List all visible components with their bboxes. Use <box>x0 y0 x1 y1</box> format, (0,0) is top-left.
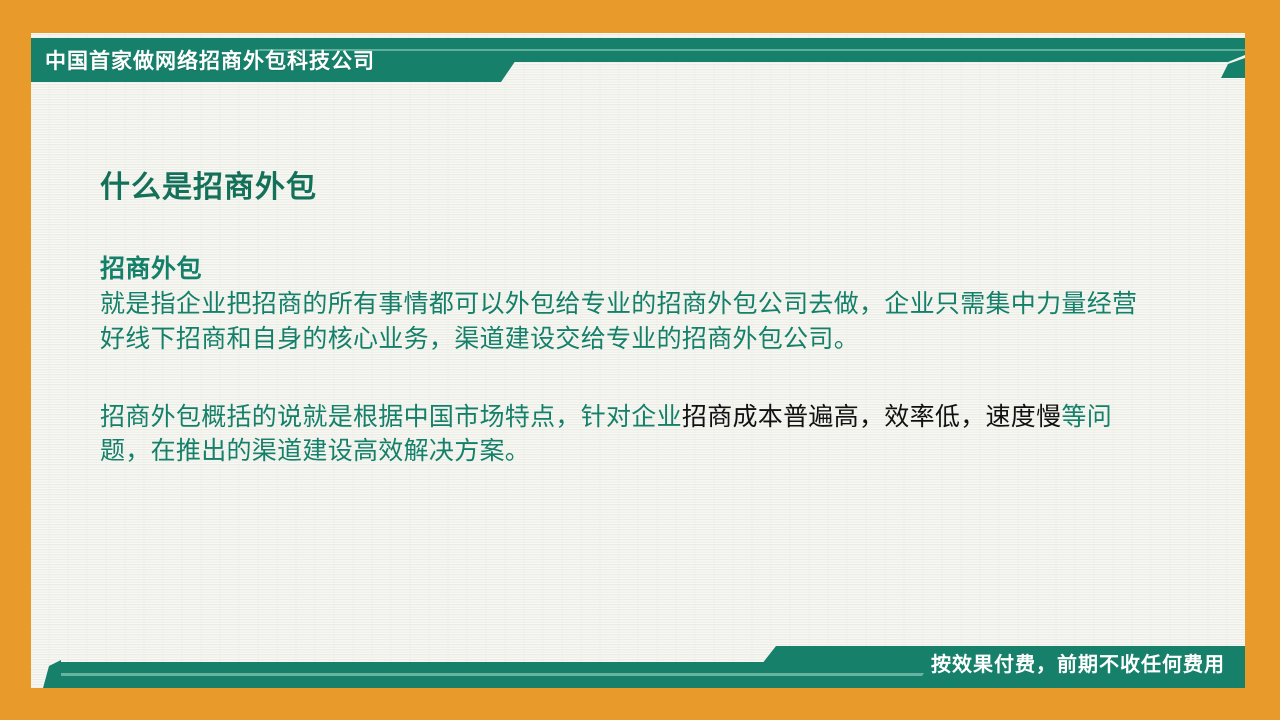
section-subhead: 招商外包 <box>100 254 1230 285</box>
slide-content: 什么是招商外包 招商外包 就是指企业把招商的所有事情都可以外包给专业的招商外包公… <box>100 170 1230 468</box>
paragraph-definition: 就是指企业把招商的所有事情都可以外包给专业的招商外包公司去做，企业只需集中力量经… <box>100 287 1150 356</box>
paragraph-summary: 招商外包概括的说就是根据中国市场特点，针对企业招商成本普遍高，效率低，速度慢等问… <box>100 400 1150 469</box>
header-title: 中国首家做网络招商外包科技公司 <box>45 45 375 75</box>
page-title: 什么是招商外包 <box>100 170 1230 206</box>
footer-tagline: 按效果付费，前期不收任何费用 <box>931 648 1225 677</box>
paragraph-summary-highlight: 招商成本普遍高，效率低，速度慢 <box>682 403 1062 431</box>
slide-root: 中国首家做网络招商外包科技公司 什么是招商外包 招商外包 就是指企业把招商的所有… <box>0 0 1280 720</box>
paragraph-summary-part1: 招商外包概括的说就是根据中国市场特点，针对企业 <box>100 403 682 431</box>
